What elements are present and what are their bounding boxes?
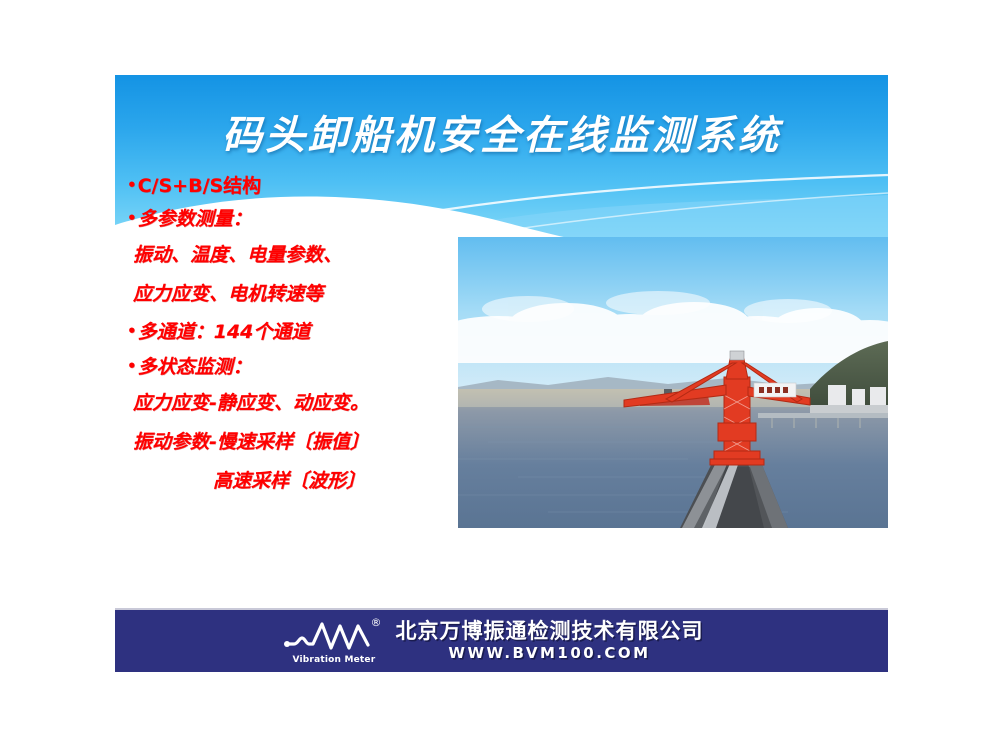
bullet-item: •多状态监测： <box>127 349 477 384</box>
site-photo <box>458 237 888 528</box>
page-title: 码头卸船机安全在线监测系统 <box>115 103 888 161</box>
bullet-text: 多参数测量： <box>138 208 252 230</box>
bullet-list: •C/S+B/S结构 •多参数测量： 振动、温度、电量参数、 应力应变、电机转速… <box>127 170 477 501</box>
bullet-text: 应力应变、电机转速等 <box>133 283 323 305</box>
waveform-icon <box>284 618 380 658</box>
bullet-text: 振动、温度、电量参数、 <box>133 244 342 266</box>
bullet-marker: • <box>127 357 137 375</box>
bullet-item: •多通道：144个通道 <box>127 314 477 349</box>
bullet-item: •C/S+B/S结构 <box>127 170 477 201</box>
bullet-text: 多状态监测： <box>138 356 252 378</box>
company-name: 北京万博振通检测技术有限公司 <box>396 621 704 642</box>
content-panel: 码头卸船机安全在线监测系统 •C/S+B/S结构 •多参数测量： 振动、温度、电… <box>115 75 888 537</box>
bullet-item: 高速采样〔波形〕 <box>127 462 477 501</box>
registered-mark-icon: ® <box>371 617 382 628</box>
bullet-marker: • <box>127 209 137 227</box>
presentation-slide: 码头卸船机安全在线监测系统 •C/S+B/S结构 •多参数测量： 振动、温度、电… <box>0 0 1000 750</box>
bullet-item: 振动参数-慢速采样〔振值〕 <box>127 423 477 462</box>
bullet-text: 多通道：144个通道 <box>138 321 311 343</box>
bullet-text: 应力应变-静应变、动应变。 <box>133 392 369 414</box>
bullet-marker: • <box>127 322 137 340</box>
bullet-item: 振动、温度、电量参数、 <box>127 236 477 275</box>
vibration-meter-logo-icon: ® Vibration Meter <box>284 618 380 664</box>
bullet-item: 应力应变-静应变、动应变。 <box>127 384 477 423</box>
footer-bar: ® Vibration Meter 北京万博振通检测技术有限公司 WWW.BVM… <box>115 608 888 672</box>
footer-text-block: 北京万博振通检测技术有限公司 WWW.BVM100.COM <box>396 621 704 661</box>
logo-caption: Vibration Meter <box>293 655 376 665</box>
company-website[interactable]: WWW.BVM100.COM <box>448 646 650 661</box>
bullet-text: 振动参数-慢速采样〔振值〕 <box>133 431 369 453</box>
bullet-marker: • <box>127 176 137 194</box>
photo-illustration <box>458 237 888 528</box>
bullet-item: •多参数测量： <box>127 201 477 236</box>
bullet-text: 高速采样〔波形〕 <box>213 470 365 492</box>
footer-content: ® Vibration Meter 北京万博振通检测技术有限公司 WWW.BVM… <box>284 618 704 664</box>
bullet-item: 应力应变、电机转速等 <box>127 275 477 314</box>
bullet-text: C/S+B/S结构 <box>138 175 262 197</box>
